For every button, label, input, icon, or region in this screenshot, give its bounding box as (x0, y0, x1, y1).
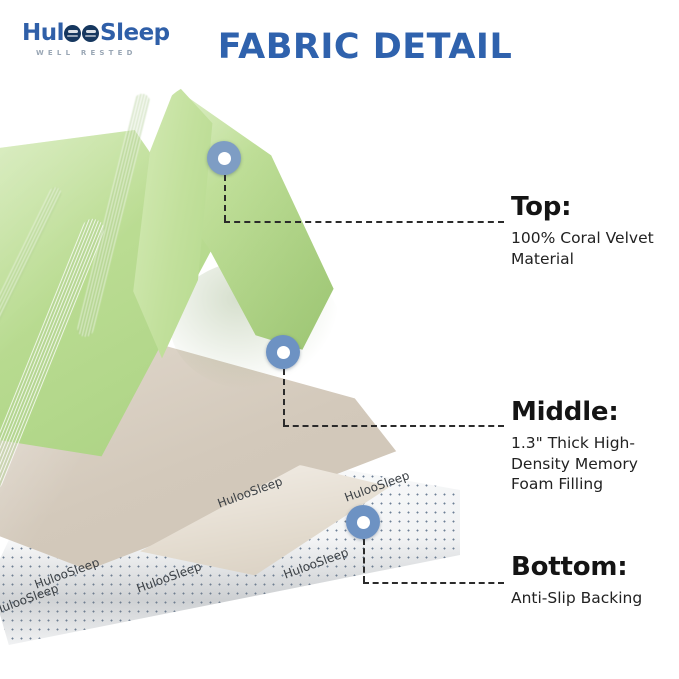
callout-top-description: 100% Coral Velvet Material (511, 228, 677, 269)
sleeping-eye-left-icon (64, 25, 81, 42)
callout-marker-bottom[interactable] (346, 505, 380, 539)
callout-marker-middle[interactable] (266, 335, 300, 369)
callout-top: Top: 100% Coral Velvet Material (511, 192, 677, 269)
sleeping-eye-right-icon (82, 25, 99, 42)
brand-tagline: WELL RESTED (36, 49, 137, 57)
brand-name-part1: Hul (22, 20, 64, 46)
brand-logo: Hul Sleep WELL RESTED (22, 20, 182, 64)
callout-middle: Middle: 1.3" Thick High-Density Memory F… (511, 397, 677, 495)
callout-middle-description: 1.3" Thick High-Density Memory Foam Fill… (511, 433, 677, 495)
callout-bottom: Bottom: Anti-Slip Backing (511, 552, 677, 609)
leader-vertical-middle (283, 369, 285, 425)
sleeping-eyes-icon (64, 24, 100, 44)
leader-horizontal-bottom (363, 582, 504, 584)
leader-horizontal-middle (283, 425, 504, 427)
callout-marker-top[interactable] (207, 141, 241, 175)
page-title: FABRIC DETAIL (215, 27, 515, 67)
infographic-canvas: Hul Sleep WELL RESTED FABRIC DETAIL Hulo… (0, 0, 679, 679)
callout-bottom-heading: Bottom: (511, 552, 677, 582)
leader-horizontal-top (224, 221, 504, 223)
callout-middle-heading: Middle: (511, 397, 677, 427)
brand-name-part2: Sleep (100, 20, 170, 46)
brand-logo-wordmark: Hul Sleep (22, 20, 170, 46)
leader-vertical-bottom (363, 539, 365, 582)
callout-bottom-description: Anti-Slip Backing (511, 588, 677, 609)
leader-vertical-top (224, 175, 226, 221)
callout-top-heading: Top: (511, 192, 677, 222)
